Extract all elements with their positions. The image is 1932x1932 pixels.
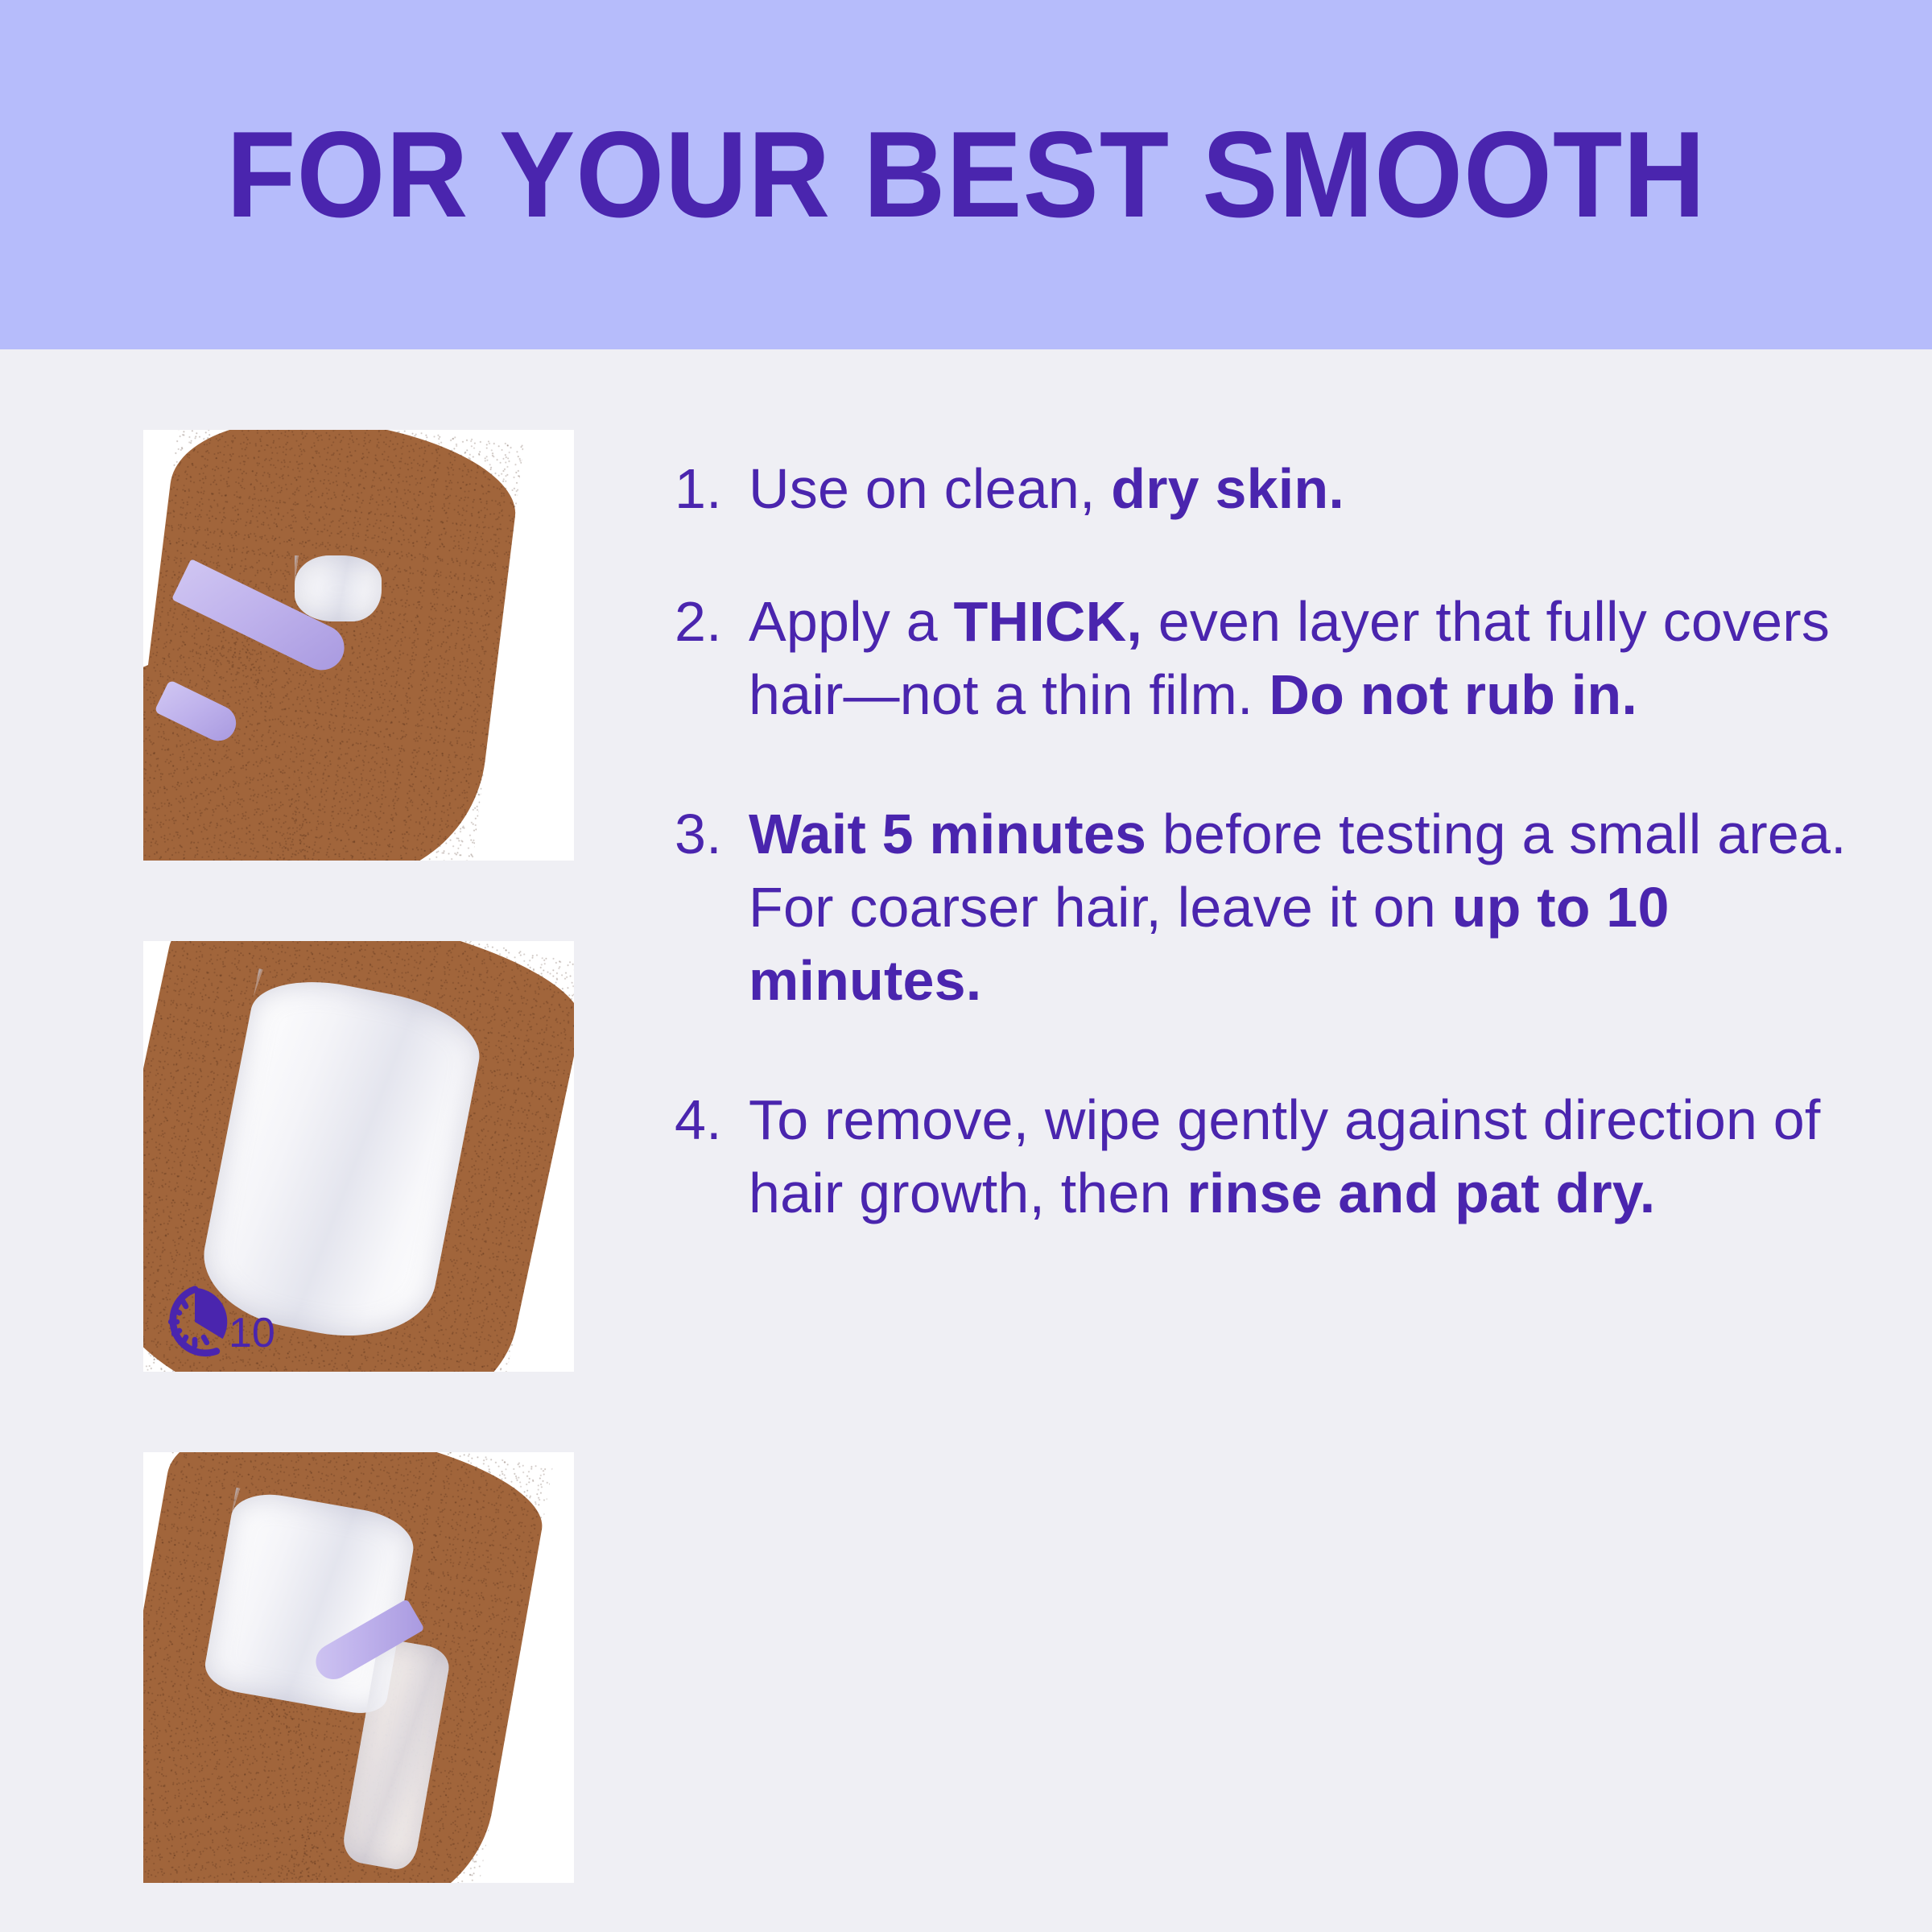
step-item: 2. Apply a THICK, even layer that fully …	[675, 585, 1850, 732]
timer-minutes-label: 10	[229, 1312, 275, 1354]
step-item: 3. Wait 5 minutes before testing a small…	[675, 798, 1850, 1018]
cream-streaks	[295, 555, 382, 621]
step-number: 2.	[675, 585, 749, 658]
hand-illustration	[143, 1680, 321, 1883]
step-item: 1. Use on clean, dry skin.	[675, 452, 1850, 526]
step-item: 4. To remove, wipe gently against direct…	[675, 1084, 1850, 1230]
instructions-stage: 10 1. Use on clean, dry skin. 2. Apply	[0, 349, 1932, 1932]
page-title: FOR YOUR BEST SMOOTH	[226, 114, 1706, 236]
timer-icon	[156, 1283, 233, 1360]
step-number: 3.	[675, 798, 749, 871]
photo-apply-cream	[143, 430, 574, 861]
cream-dollop	[295, 555, 382, 621]
step-text: Use on clean, dry skin.	[749, 452, 1850, 526]
timer-badge: 10	[156, 1283, 279, 1360]
photo-thick-layer: 10	[143, 941, 574, 1372]
step-text: Apply a THICK, even layer that fully cov…	[749, 585, 1850, 732]
header-banner: FOR YOUR BEST SMOOTH	[0, 0, 1932, 349]
photo-wipe-off	[143, 1452, 574, 1883]
instruction-steps: 1. Use on clean, dry skin. 2. Apply a TH…	[675, 452, 1850, 1230]
photo-column: 10	[143, 430, 574, 1883]
step-number: 4.	[675, 1084, 749, 1157]
skin-texture	[143, 1680, 321, 1883]
step-number: 1.	[675, 452, 749, 526]
step-text: To remove, wipe gently against direction…	[749, 1084, 1850, 1230]
step-text: Wait 5 minutes before testing a small ar…	[749, 798, 1850, 1018]
